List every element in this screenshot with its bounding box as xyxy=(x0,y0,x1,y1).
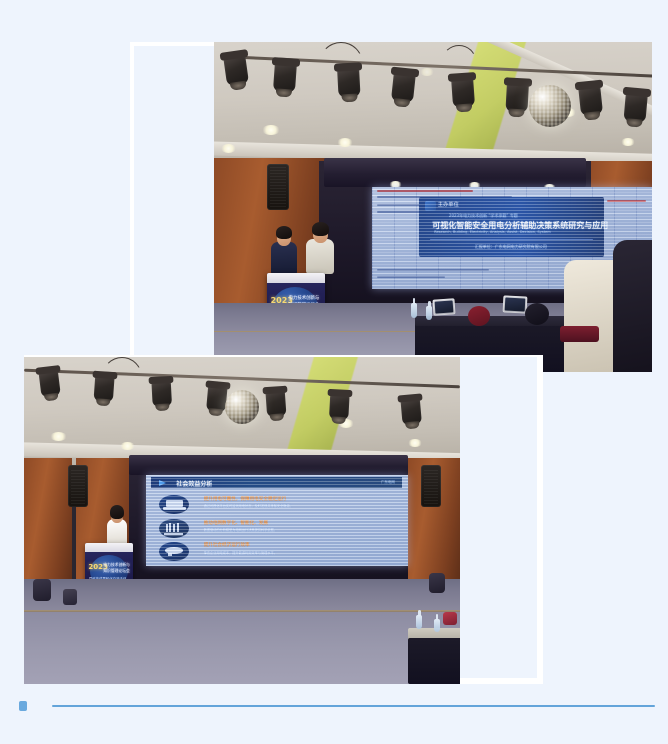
stage-light xyxy=(273,61,297,92)
presenter-hair xyxy=(110,505,124,519)
recessed-light xyxy=(621,138,635,146)
photo-bottom-scene: 社会效益分析 广东电网 提升用电可靠性，保障用电安全稳定运行 通过可视化平台实时… xyxy=(24,357,460,684)
slide-bullet-2-body: 数据驱动的分析模型为电网运行决策提供科学依据。 xyxy=(204,527,277,532)
attendee-shoulder xyxy=(468,306,490,326)
photo-top-alt: Auditorium stage with two presenters sta… xyxy=(0,0,1,1)
water-bottle xyxy=(426,306,432,320)
loudspeaker xyxy=(267,164,289,210)
stage-light xyxy=(506,81,530,112)
screen-row xyxy=(377,269,489,271)
stage-header-band xyxy=(324,158,587,188)
photo-top[interactable]: 主办单位 2023年电力技术创新 “学术承载” 专题 可视化智能安全用电分析辅助… xyxy=(214,42,652,372)
table-item xyxy=(443,612,457,625)
recessed-light xyxy=(337,138,353,147)
foreground-strap xyxy=(560,326,599,343)
laptop-icon xyxy=(159,495,189,514)
stage-light xyxy=(623,91,648,123)
slide-subtitle-en: Research, Building, Electricity, Analysi… xyxy=(434,230,551,234)
floor-equipment xyxy=(429,573,445,593)
presenter xyxy=(107,504,127,546)
pager-current-dot[interactable] xyxy=(19,701,27,711)
lectern-title-line1: 电力技术创新与 xyxy=(289,295,320,301)
photo-gallery: 主办单位 2023年电力技术创新 “学术承载” 专题 可视化智能安全用电分析辅助… xyxy=(0,0,668,744)
recessed-light xyxy=(262,125,280,135)
photo-card-top[interactable]: 主办单位 2023年电力技术创新 “学术承载” 专题 可视化智能安全用电分析辅助… xyxy=(130,42,652,372)
slide-heading: 社会效益分析 xyxy=(176,479,212,488)
chat-icon xyxy=(159,542,189,561)
floor-equipment xyxy=(63,589,77,605)
recessed-light xyxy=(221,144,236,153)
slide-bullet-3-title: 提升社会经济运行效率 xyxy=(204,542,250,548)
wall-wood-left xyxy=(24,458,72,589)
recessed-light xyxy=(120,442,135,450)
photo-bottom-alt: Wide view of the same conference hall: o… xyxy=(0,0,1,1)
screen-row-accent xyxy=(377,190,472,192)
slide-arrow-icon xyxy=(159,480,166,486)
stage-light xyxy=(337,66,361,97)
stage-light xyxy=(400,397,422,425)
floor-carpet xyxy=(24,612,460,684)
pager-progress-track[interactable] xyxy=(52,705,655,707)
stage-light xyxy=(265,389,286,417)
presenter-hair xyxy=(276,226,292,239)
photo-bottom[interactable]: 社会效益分析 广东电网 提升用电可靠性，保障用电安全稳定运行 通过可视化平台实时… xyxy=(24,357,460,684)
conference-table xyxy=(408,638,460,684)
stage-light xyxy=(93,374,114,402)
attendee-head xyxy=(525,303,549,325)
water-bottle xyxy=(411,303,417,318)
photo-card-bottom[interactable]: 社会效益分析 广东电网 提升用电可靠性，保障用电安全稳定运行 通过可视化平台实时… xyxy=(24,355,543,684)
water-bottle xyxy=(434,619,440,632)
lectern-shelf xyxy=(267,273,325,283)
carousel-pager[interactable] xyxy=(0,698,668,716)
mirror-ball xyxy=(225,390,259,424)
recessed-light xyxy=(408,439,422,447)
slide-header-band: 社会效益分析 广东电网 xyxy=(151,477,402,488)
slide-bullet-3-body: 降低企业用电成本，提升能源利用效率与管理水平。 xyxy=(204,550,277,555)
floor-equipment xyxy=(33,579,51,601)
slide-brand: 广东电网 xyxy=(381,480,395,485)
loudspeaker-left xyxy=(68,465,88,507)
slide-logo-text: 主办单位 xyxy=(438,201,459,208)
lectern-shelf xyxy=(85,543,133,551)
stage-light xyxy=(329,392,350,419)
laptop xyxy=(432,299,455,316)
slide-footer: 汇报单位：广东电网电力研究院有限公司 xyxy=(475,244,547,250)
slide-bullet-1-title: 提升用电可靠性，保障用电安全稳定运行 xyxy=(204,496,287,502)
slide-pane: 主办单位 2023年电力技术创新 “学术承载” 专题 可视化智能安全用电分析辅助… xyxy=(419,197,604,256)
led-screen: 社会效益分析 广东电网 提升用电可靠性，保障用电安全稳定运行 通过可视化平台实时… xyxy=(146,475,408,567)
stage-light xyxy=(451,76,475,107)
slide-logo-mark xyxy=(425,201,436,211)
presenter-torso xyxy=(306,239,334,274)
stage-light xyxy=(391,71,416,103)
stage-light xyxy=(152,379,173,406)
stage-header-band xyxy=(129,455,408,475)
lectern-title-line2: 知识管理论坛会 xyxy=(103,568,130,574)
slide-eyebrow: 2023年电力技术创新 “学术承载” 专题 xyxy=(449,213,518,219)
slide-bullet-1-body: 通过可视化平台实时监测用电状态，及时发现并排除安全隐患。 xyxy=(204,503,293,508)
slide-bullet-2-title: 推动电网数字化、智能化、发展 xyxy=(204,520,268,526)
slide-divider xyxy=(430,239,593,240)
mirror-ball xyxy=(529,85,571,127)
stage-floor xyxy=(24,579,460,612)
laptop xyxy=(503,295,528,313)
screen-row xyxy=(377,276,444,278)
presenter-torso xyxy=(271,242,297,275)
stage-light xyxy=(38,369,60,398)
presenter-torso xyxy=(107,519,127,546)
presenter-right xyxy=(306,220,334,274)
books-icon xyxy=(159,519,189,538)
stage-light xyxy=(578,84,603,116)
water-bottle xyxy=(416,615,422,629)
foreground-person-dark xyxy=(613,240,652,372)
presenter-left xyxy=(271,224,297,276)
loudspeaker-right xyxy=(421,465,441,507)
stage-light xyxy=(223,54,249,87)
photo-top-scene: 主办单位 2023年电力技术创新 “学术承载” 专题 可视化智能安全用电分析辅助… xyxy=(214,42,652,372)
presenter-hair xyxy=(312,222,329,236)
